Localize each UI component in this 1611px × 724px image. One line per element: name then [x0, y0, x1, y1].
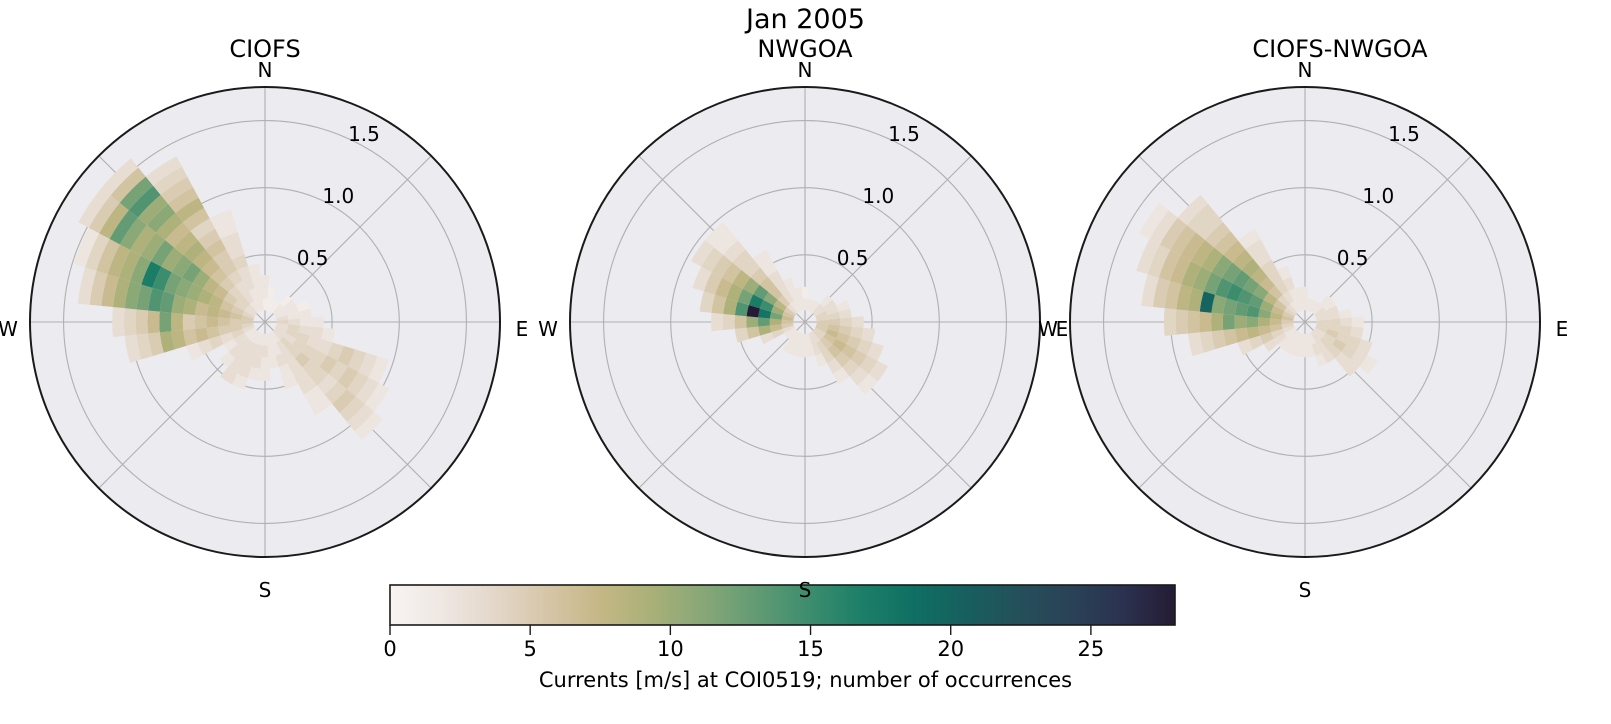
compass-label-n-2: N — [1289, 58, 1321, 82]
histogram-cell — [112, 307, 124, 337]
radial-tick-label-0-2: 0.5 — [1337, 246, 1369, 270]
radial-tick-label-1-0: 1.0 — [322, 184, 354, 208]
histogram-cell — [735, 315, 747, 329]
histogram-cell — [259, 369, 271, 381]
histogram-cell — [300, 317, 312, 326]
colorbar-tick-label-3: 15 — [786, 637, 836, 661]
colorbar-tick-label-5: 25 — [1066, 637, 1116, 661]
radial-tick-label-2-1: 1.5 — [888, 122, 920, 146]
compass-label-s-2: S — [1289, 578, 1321, 602]
histogram-cell — [758, 317, 770, 326]
histogram-cell — [711, 313, 723, 331]
polar-axes-ciofs-nwgoa — [1070, 87, 1540, 557]
compass-label-n-1: N — [789, 58, 821, 82]
colorbar-gradient-bar — [390, 585, 1175, 625]
histogram-cell — [136, 309, 148, 334]
histogram-cell — [1223, 314, 1235, 330]
histogram-cell — [723, 314, 735, 330]
compass-label-n-0: N — [249, 58, 281, 82]
histogram-cell — [1235, 315, 1247, 329]
histogram-cell — [1302, 345, 1309, 357]
histogram-cell — [802, 345, 809, 357]
colorbar-tick-label-1: 5 — [505, 637, 555, 661]
histogram-cell — [1340, 317, 1352, 326]
histogram-cell — [1352, 316, 1364, 328]
histogram-cell — [260, 357, 269, 369]
histogram-cell — [124, 308, 136, 336]
colorbar-tick-label-2: 10 — [645, 637, 695, 661]
histogram-cell — [171, 313, 183, 331]
histogram-cell — [262, 287, 269, 299]
radial-tick-label-0-0: 0.5 — [297, 246, 329, 270]
histogram-cell — [1199, 312, 1211, 333]
colorbar-tick-label-0: 0 — [365, 637, 415, 661]
histogram-cell — [1246, 316, 1258, 328]
histogram-cell — [852, 316, 864, 328]
radial-tick-label-1-2: 1.0 — [1362, 184, 1394, 208]
histogram-cell — [1302, 287, 1309, 299]
histogram-cell — [230, 319, 242, 326]
histogram-cell — [288, 319, 300, 326]
histogram-cell — [746, 316, 758, 328]
compass-label-w-1: W — [532, 317, 564, 341]
histogram-cell — [148, 310, 160, 333]
polar-rose-plots — [0, 0, 1611, 724]
figure-canvas: Jan 2005 CIOFS NWGOA CIOFS-NWGOA NESW0.5… — [0, 0, 1611, 724]
histogram-cell — [262, 345, 269, 357]
compass-label-e-2: E — [1546, 317, 1578, 341]
colorbar-caption: Currents [m/s] at COI0519; number of occ… — [0, 668, 1611, 692]
radial-tick-label-0-1: 0.5 — [837, 246, 869, 270]
histogram-cell — [840, 317, 852, 326]
radial-tick-label-1-1: 1.0 — [862, 184, 894, 208]
histogram-cell — [195, 315, 207, 329]
compass-label-s-1: S — [789, 578, 821, 602]
histogram-cell — [183, 314, 195, 330]
panel-title-ciofs-nwgoa: CIOFS-NWGOA — [1075, 35, 1605, 63]
histogram-cell — [1176, 309, 1188, 334]
polar-axes-nwgoa — [570, 87, 1040, 557]
radial-tick-label-2-0: 1.5 — [348, 122, 380, 146]
colorbar — [390, 585, 1175, 635]
radial-tick-label-2-2: 1.5 — [1388, 122, 1420, 146]
histogram-cell — [828, 319, 840, 326]
histogram-cell — [1164, 308, 1176, 336]
histogram-cell — [312, 316, 324, 328]
histogram-cell — [1270, 319, 1282, 326]
histogram-cell — [159, 312, 171, 333]
compass-label-w-0: W — [0, 317, 24, 341]
histogram-cell — [1328, 319, 1340, 326]
histogram-cell — [1258, 317, 1270, 326]
histogram-cell — [770, 319, 782, 326]
compass-label-w-2: W — [1032, 317, 1064, 341]
histogram-cell — [260, 275, 269, 287]
histogram-cell — [218, 317, 230, 326]
compass-label-s-0: S — [249, 578, 281, 602]
histogram-cell — [802, 287, 809, 299]
histogram-cell — [1211, 313, 1223, 331]
histogram-cell — [206, 316, 218, 328]
colorbar-tick-label-4: 20 — [926, 637, 976, 661]
polar-axes-ciofs — [30, 87, 500, 557]
figure-suptitle: Jan 2005 — [0, 4, 1611, 35]
histogram-cell — [1188, 310, 1200, 333]
